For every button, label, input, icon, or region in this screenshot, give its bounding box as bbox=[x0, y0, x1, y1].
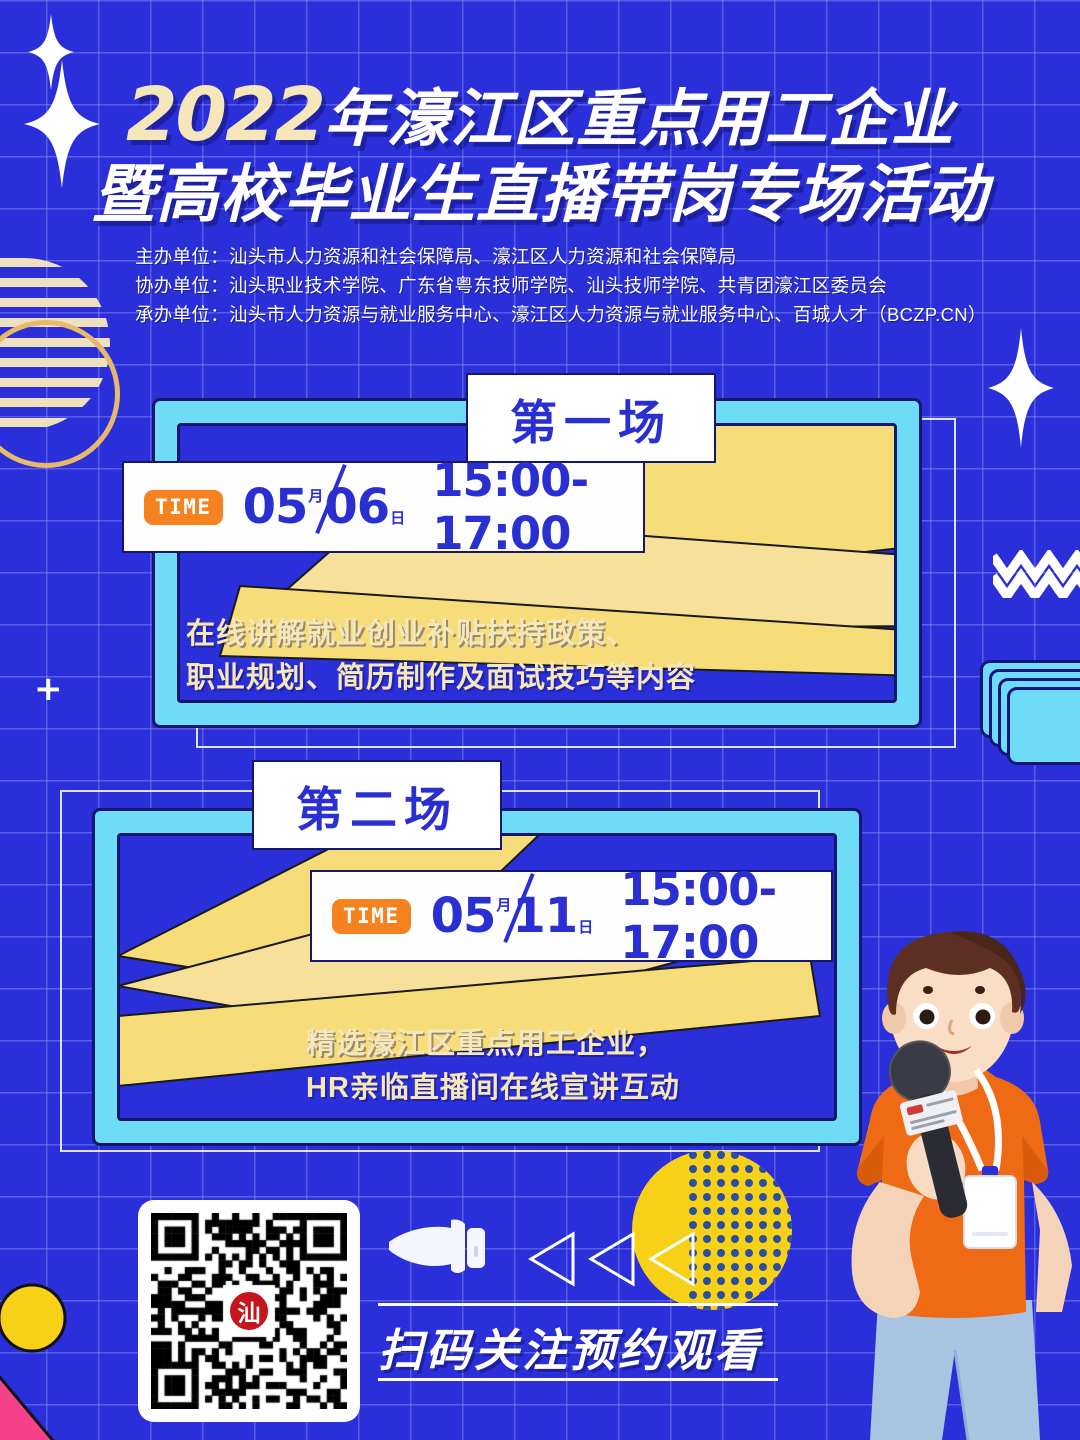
zigzag-decoration bbox=[993, 550, 1080, 603]
organizer-list: 主办单位：汕头市人力资源和社会保障局、濠江区人力资源和社会保障局 协办单位：汕头… bbox=[135, 242, 987, 330]
organizer-line: 协办单位：汕头职业技术学院、广东省粤东技师学院、汕头技师学院、共青团濠江区委员会 bbox=[135, 271, 987, 300]
organizer-line: 承办单位：汕头市人力资源与就业服务中心、濠江区人力资源与就业服务中心、百城人才（… bbox=[135, 300, 987, 329]
organizer-line: 主办单位：汕头市人力资源和社会保障局、濠江区人力资源和社会保障局 bbox=[135, 242, 987, 271]
session-2-hours: 15:00-17:00 bbox=[620, 863, 811, 969]
pointing-hand-icon bbox=[385, 1218, 495, 1285]
triangle-arrows-decoration bbox=[525, 1230, 715, 1293]
poster-title: 2022年濠江区重点用工企业 暨高校毕业生直播带岗专场活动 bbox=[0, 78, 1080, 228]
session-2-timebar: TIME 05 月 11 日 15:00-17:00 bbox=[310, 870, 833, 962]
session-2-tag: 第二场 bbox=[252, 760, 502, 850]
session-1-desc-line-2: 职业规划、简历制作及面试技巧等内容 bbox=[186, 656, 846, 700]
session-1-month-unit: 月 bbox=[308, 485, 323, 506]
session-2-date: 05 月 11 日 bbox=[431, 888, 595, 944]
title-line-2: 暨高校毕业生直播带岗专场活动 bbox=[0, 163, 1080, 227]
session-1-desc-line-1: 在线讲解就业创业补贴扶持政策、 bbox=[186, 612, 846, 656]
session-1-timebar: TIME 05 月 06 日 15:00-17:00 bbox=[122, 461, 645, 553]
pink-bar-decoration bbox=[0, 1280, 94, 1440]
session-1-date: 05 月 06 日 bbox=[243, 479, 407, 535]
title-line-1: 2022年濠江区重点用工企业 bbox=[0, 78, 1080, 153]
presenter-illustration bbox=[800, 920, 1080, 1440]
session-2-month-unit: 月 bbox=[496, 894, 511, 915]
title-line-1-rest: 年濠江区重点用工企业 bbox=[324, 82, 954, 155]
poster-root: + 2022年濠江区重点用工企业 暨高校毕业生直播带岗专场活动 主办单位：汕头市… bbox=[0, 0, 1080, 1440]
session-1-description: 在线讲解就业创业补贴扶持政策、 职业规划、简历制作及面试技巧等内容 bbox=[186, 612, 846, 700]
session-2-day-unit: 日 bbox=[578, 916, 593, 937]
session-2-tag-label: 第二场 bbox=[296, 771, 458, 840]
session-1-day-unit: 日 bbox=[390, 507, 405, 528]
time-badge: TIME bbox=[144, 490, 223, 525]
cta-top-rule bbox=[378, 1303, 778, 1306]
qr-code[interactable]: 汕 bbox=[138, 1200, 360, 1422]
stacked-cards-decoration bbox=[980, 660, 1080, 770]
cta-label: 扫码关注预约观看 bbox=[378, 1314, 762, 1379]
sparkle-icon bbox=[988, 328, 1054, 448]
session-1-month: 05 bbox=[243, 479, 308, 535]
session-1-tag-label: 第一场 bbox=[510, 384, 672, 453]
session-1-hours: 15:00-17:00 bbox=[432, 454, 623, 560]
plus-icon: + bbox=[34, 672, 63, 706]
time-badge: TIME bbox=[332, 899, 411, 934]
cta-bottom-rule bbox=[378, 1378, 778, 1381]
session-1-tag: 第一场 bbox=[466, 373, 716, 463]
session-2-month: 05 bbox=[431, 888, 496, 944]
qr-logo-icon: 汕 bbox=[227, 1289, 271, 1333]
title-year: 2022 bbox=[126, 72, 324, 158]
